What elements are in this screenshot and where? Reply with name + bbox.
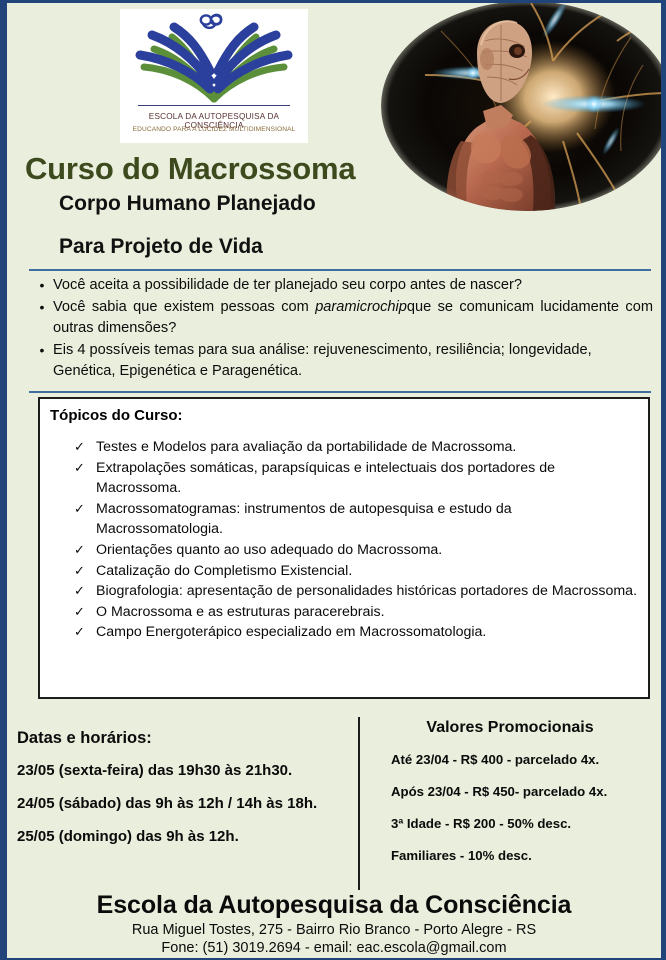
price-line: Até 23/04 - R$ 400 - parcelado 4x. <box>367 752 653 767</box>
check-icon: ✓ <box>74 437 96 458</box>
page-subtitle-1: Corpo Humano Planejado <box>59 192 316 216</box>
question-text: Você sabia que existem pessoas com param… <box>53 297 653 339</box>
logo-divider <box>138 105 290 106</box>
topic-text: Campo Energoterápico especializado em Ma… <box>96 622 640 643</box>
question-text: Eis 4 possíveis temas para sua análise: … <box>53 340 653 382</box>
questions-list: • Você aceita a possibilidade de ter pla… <box>31 275 653 383</box>
schedule-title: Datas e horários: <box>17 729 352 748</box>
check-icon: ✓ <box>74 540 96 561</box>
page-title: Curso do Macrossoma <box>25 151 355 187</box>
topic-text: Macrossomatogramas: instrumentos de auto… <box>96 499 640 540</box>
check-icon: ✓ <box>74 561 96 582</box>
list-item: • Eis 4 possíveis temas para sua análise… <box>31 340 653 382</box>
footer-contact: Fone: (51) 3019.2694 - email: eac.escola… <box>7 940 661 956</box>
check-icon: ✓ <box>74 622 96 643</box>
list-item: ✓ Orientações quanto ao uso adequado do … <box>74 540 640 561</box>
check-icon: ✓ <box>74 581 96 602</box>
divider-top <box>29 269 651 271</box>
schedule-section: Datas e horários: 23/05 (sexta-feira) da… <box>17 729 352 861</box>
human-anatomy-neuron-oval-image <box>381 1 666 211</box>
topic-text: O Macrossoma e as estruturas paracerebra… <box>96 602 640 623</box>
schedule-line: 25/05 (domingo) das 9h às 12h. <box>17 828 352 845</box>
footer: Escola da Autopesquisa da Consciência Ru… <box>7 891 661 956</box>
prices-section: Valores Promocionais Até 23/04 - R$ 400 … <box>367 719 653 880</box>
schedule-line: 24/05 (sábado) das 9h às 12h / 14h às 18… <box>17 795 352 812</box>
list-item: ✓ Campo Energoterápico especializado em … <box>74 622 640 643</box>
schedule-line: 23/05 (sexta-feira) das 19h30 às 21h30. <box>17 762 352 779</box>
check-icon: ✓ <box>74 458 96 479</box>
price-line: 3ª Idade - R$ 200 - 50% desc. <box>367 816 653 831</box>
topic-text: Extrapolações somáticas, parapsíquicas e… <box>96 458 640 499</box>
list-item: • Você aceita a possibilidade de ter pla… <box>31 275 653 296</box>
check-icon: ✓ <box>74 499 96 520</box>
topic-text: Orientações quanto ao uso adequado do Ma… <box>96 540 640 561</box>
book-leaves-logo-icon <box>120 11 308 103</box>
list-item: ✓ O Macrossoma e as estruturas paracereb… <box>74 602 640 623</box>
bullet-icon: • <box>31 340 53 361</box>
question-emphasis: paramicrochip <box>315 299 407 315</box>
footer-address: Rua Miguel Tostes, 275 - Bairro Rio Bran… <box>7 922 661 938</box>
school-logo: ESCOLA DA AUTOPESQUISA DA CONSCIÊNCIA ED… <box>120 9 308 143</box>
price-line: Após 23/04 - R$ 450- parcelado 4x. <box>367 784 653 799</box>
list-item: ✓ Macrossomatogramas: instrumentos de au… <box>74 499 640 540</box>
topics-title: Tópicos do Curso: <box>50 407 183 424</box>
topic-text: Catalização do Completismo Existencial. <box>96 561 640 582</box>
bullet-icon: • <box>31 297 53 318</box>
list-item: • Você sabia que existem pessoas com par… <box>31 297 653 339</box>
poster-header: ESCOLA DA AUTOPESQUISA DA CONSCIÊNCIA ED… <box>7 3 661 265</box>
list-item: ✓ Testes e Modelos para avaliação da por… <box>74 437 640 458</box>
page-subtitle-2: Para Projeto de Vida <box>59 235 263 259</box>
bullet-icon: • <box>31 275 53 296</box>
list-item: ✓ Extrapolações somáticas, parapsíquicas… <box>74 458 640 499</box>
check-icon: ✓ <box>74 602 96 623</box>
topics-list: ✓ Testes e Modelos para avaliação da por… <box>74 437 640 643</box>
list-item: ✓ Catalização do Completismo Existencial… <box>74 561 640 582</box>
question-text: Você aceita a possibilidade de ter plane… <box>53 275 653 296</box>
column-divider <box>358 717 360 890</box>
divider-bottom <box>29 391 651 393</box>
list-item: ✓ Biografologia: apresentação de persona… <box>74 581 640 602</box>
topics-box: Tópicos do Curso: ✓ Testes e Modelos par… <box>38 397 650 699</box>
topic-text: Biografologia: apresentação de personali… <box>96 581 640 602</box>
logo-tagline: EDUCANDO PARA A LUCIDEZ MULTIDIMENSIONAL <box>120 126 308 133</box>
topic-text: Testes e Modelos para avaliação da porta… <box>96 437 640 458</box>
price-line: Familiares - 10% desc. <box>367 848 653 863</box>
prices-title: Valores Promocionais <box>367 719 653 737</box>
footer-school-name: Escola da Autopesquisa da Consciência <box>7 891 661 920</box>
poster-root: ESCOLA DA AUTOPESQUISA DA CONSCIÊNCIA ED… <box>0 0 666 960</box>
